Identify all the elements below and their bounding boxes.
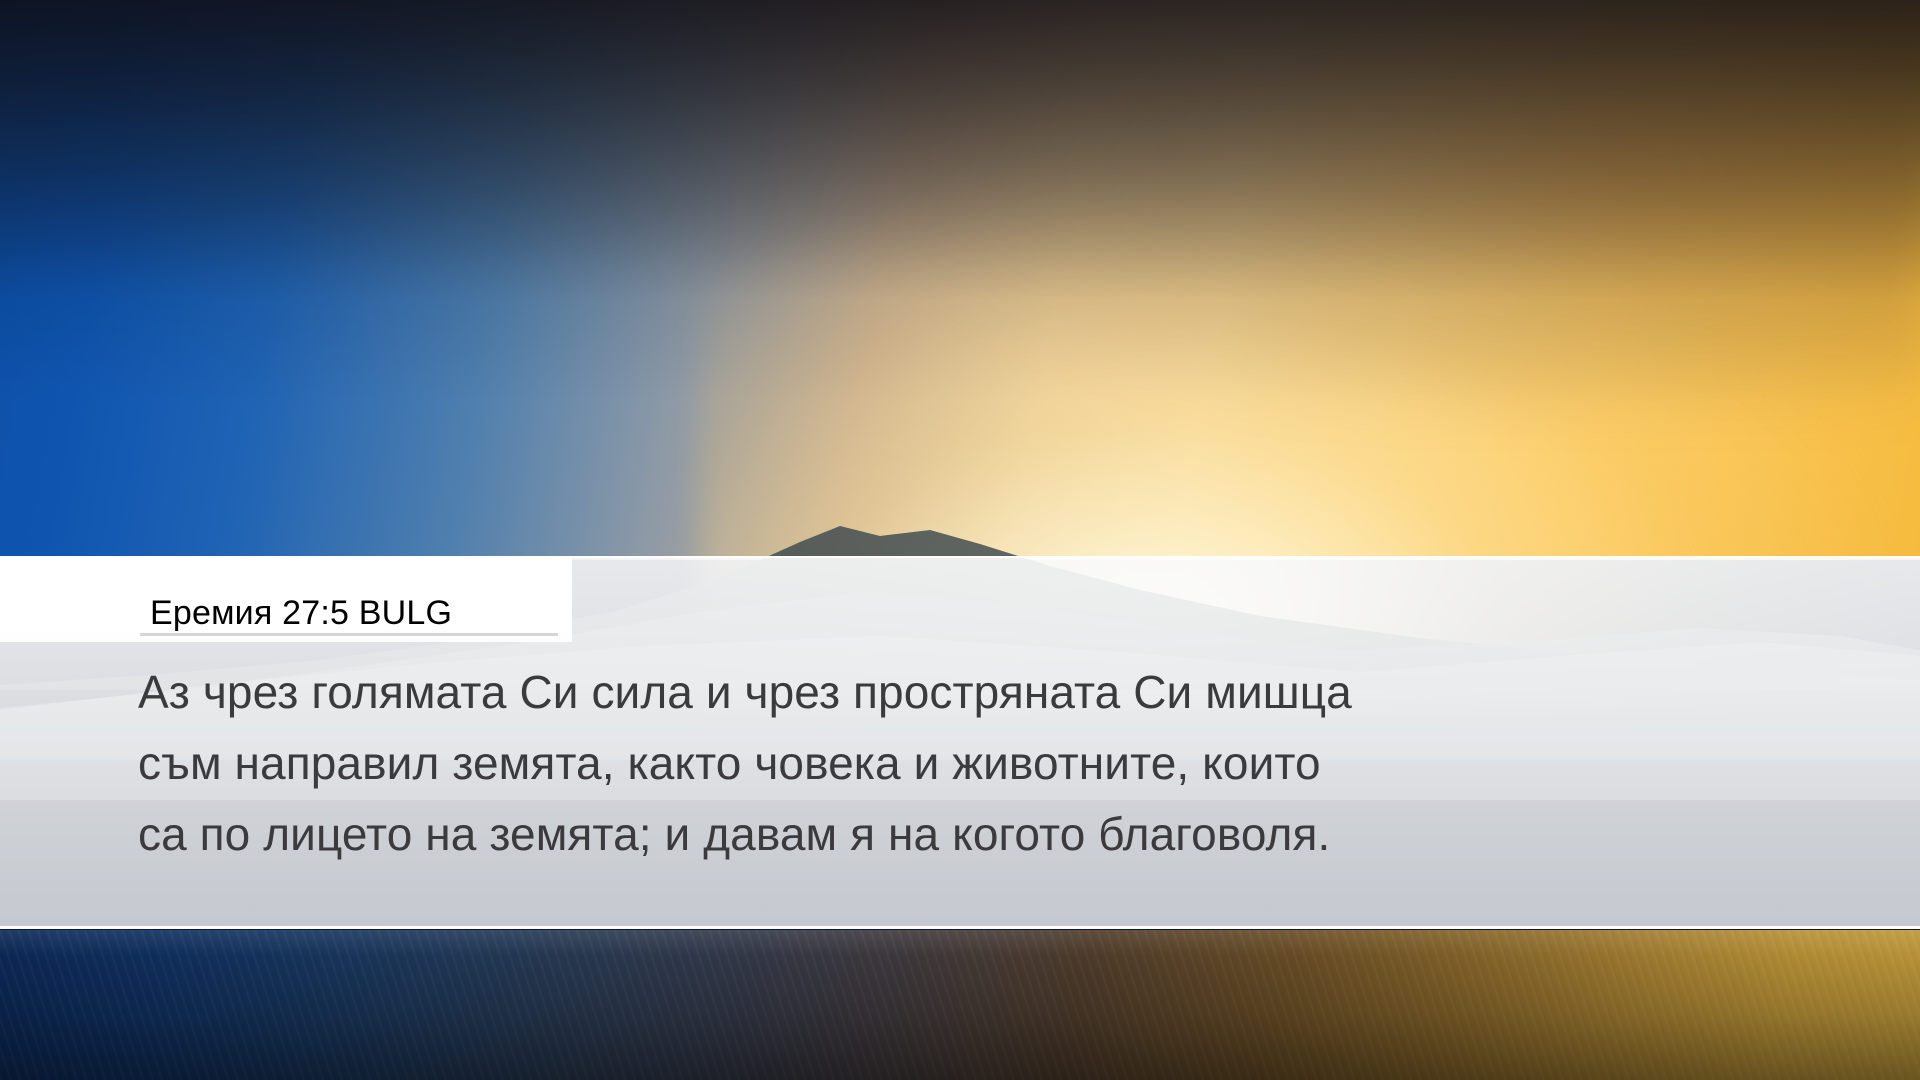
verse-image-canvas: Еремия 27:5 BULG Аз чрез голямата Си сил…: [0, 0, 1920, 1080]
scripture-reference-label: Еремия 27:5 BULG: [150, 596, 452, 630]
verse-band-bottom-edge: [0, 926, 1920, 929]
verse-text-block: Аз чрез голямата Си сила и чрез прострян…: [138, 657, 1798, 870]
sky-top-vignette: [0, 0, 1920, 300]
reference-underline: [140, 633, 558, 636]
verse-line-2: съм направил земята, както човека и живо…: [138, 728, 1798, 799]
verse-line-1: Аз чрез голямата Си сила и чрез прострян…: [138, 657, 1798, 728]
verse-line-3: са по лицето на земята; и давам я на ког…: [138, 799, 1798, 870]
water-shadow-overlay: [0, 930, 1920, 1080]
